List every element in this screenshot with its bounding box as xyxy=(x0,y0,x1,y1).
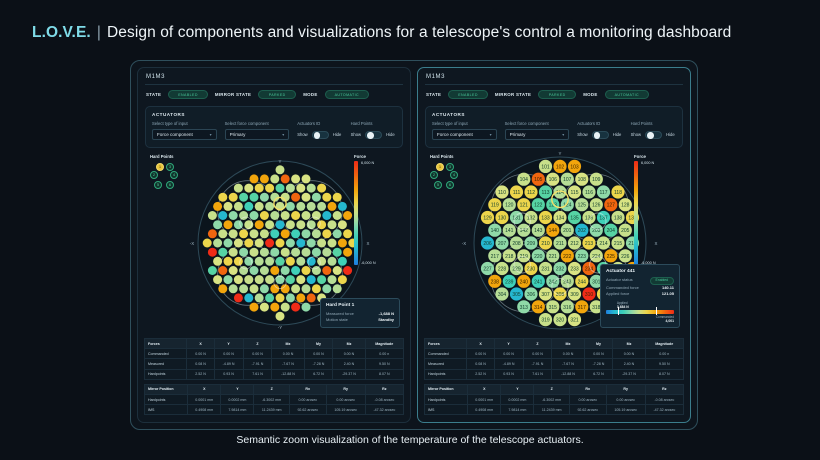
actuator-dot[interactable] xyxy=(328,275,337,284)
actuator-dot[interactable]: 243 xyxy=(561,275,574,288)
actuator-id-label: 104 xyxy=(520,177,529,183)
actuator-dot[interactable]: 136 xyxy=(582,211,595,224)
hard-point-dot[interactable]: 6 xyxy=(166,181,174,189)
actuator-dot[interactable]: 142 xyxy=(517,224,530,237)
actuator-dot[interactable]: 232 xyxy=(553,262,566,275)
mirror-plot-left[interactable]: Y-YX-X Hard Points 123456 Force 6,000 N … xyxy=(144,152,404,334)
actuator-dot[interactable] xyxy=(338,275,347,284)
actuator-dot[interactable]: 306 xyxy=(524,287,537,300)
actuator-dot[interactable] xyxy=(291,229,300,238)
toggle-knob xyxy=(594,132,601,139)
actuator-dot[interactable] xyxy=(218,266,227,275)
actuator-dot[interactable]: 118 xyxy=(611,185,624,198)
actuator-dot[interactable] xyxy=(322,266,331,275)
actuator-dot[interactable] xyxy=(317,239,326,248)
actuator-dot[interactable] xyxy=(291,284,300,293)
actuator-dot[interactable]: 211 xyxy=(553,236,566,249)
actuator-dot[interactable] xyxy=(260,303,269,312)
actuator-dot[interactable] xyxy=(250,174,259,183)
actuators-section-title: ACTUATORS xyxy=(152,112,396,117)
actuator-dot[interactable]: 320 xyxy=(553,313,566,326)
actuator-dot[interactable]: 242 xyxy=(546,275,559,288)
actuator-dot[interactable] xyxy=(208,211,217,220)
actuator-dot[interactable] xyxy=(250,229,259,238)
actuator-dot[interactable]: 321 xyxy=(568,313,581,326)
actuator-dot[interactable] xyxy=(296,293,305,302)
actuator-dot[interactable]: 228 xyxy=(495,262,508,275)
force-component-select[interactable]: Primary ▾ xyxy=(505,129,570,140)
actuator-dot[interactable]: 116 xyxy=(582,185,595,198)
actuator-dot[interactable] xyxy=(307,202,316,211)
actuator-dot[interactable] xyxy=(312,284,321,293)
actuator-dot[interactable] xyxy=(244,275,253,284)
actuator-dot[interactable] xyxy=(224,257,233,266)
actuator-dot[interactable]: 111 xyxy=(510,185,523,198)
actuator-dot[interactable] xyxy=(260,193,269,202)
hard-points-toggle[interactable] xyxy=(365,131,382,139)
actuator-dot[interactable] xyxy=(276,257,285,266)
actuator-dot[interactable]: 117 xyxy=(597,185,610,198)
actuator-dot[interactable] xyxy=(244,239,253,248)
actuator-dot[interactable]: 130 xyxy=(495,211,508,224)
actuator-dot[interactable]: 307 xyxy=(539,287,552,300)
actuator-dot[interactable]: 219 xyxy=(517,249,530,262)
actuator-dot[interactable] xyxy=(302,193,311,202)
hard-points-legend-title: Hard Points xyxy=(150,154,196,159)
hard-point-dot[interactable]: 5 xyxy=(154,181,162,189)
actuator-dot[interactable] xyxy=(296,239,305,248)
mirror-plot-right[interactable]: Y-YX-X1011021031041051061071081091101111… xyxy=(424,152,684,334)
actuator-id-label: 320 xyxy=(556,318,565,324)
actuator-dot[interactable]: 239 xyxy=(503,275,516,288)
actuator-dot[interactable] xyxy=(302,248,311,257)
actuator-dot[interactable] xyxy=(338,220,347,229)
actuator-dot[interactable] xyxy=(333,248,342,257)
page-title: L.O.V.E. | Design of components and visu… xyxy=(32,24,731,42)
actuator-dot[interactable] xyxy=(213,257,222,266)
actuator-dot[interactable]: 218 xyxy=(503,249,516,262)
table-cell: 105.19 arcsec xyxy=(606,405,645,415)
actuator-dot[interactable]: 108 xyxy=(575,173,588,186)
actuator-dot[interactable] xyxy=(296,257,305,266)
column-header: X xyxy=(187,339,214,349)
actuator-dot[interactable] xyxy=(317,202,326,211)
actuator-dot[interactable]: 121 xyxy=(517,198,530,211)
actuator-dot[interactable] xyxy=(281,248,290,257)
actuator-dot[interactable] xyxy=(270,174,279,183)
actuator-dot[interactable] xyxy=(250,248,259,257)
actuator-dot[interactable]: 233 xyxy=(568,262,581,275)
title-separator: | xyxy=(97,24,101,42)
actuator-dot[interactable] xyxy=(291,211,300,220)
actuator-dot[interactable] xyxy=(343,211,352,220)
actuator-dot[interactable]: 105 xyxy=(532,173,545,186)
actuator-dot[interactable] xyxy=(213,239,222,248)
actuator-dot[interactable]: 138 xyxy=(611,211,624,224)
actuator-dot[interactable]: 215 xyxy=(611,236,624,249)
actuator-dot[interactable] xyxy=(250,211,259,220)
actuator-dot[interactable]: 231 xyxy=(539,262,552,275)
actuator-dot[interactable]: 203 xyxy=(590,224,603,237)
actuator-dot[interactable] xyxy=(239,211,248,220)
actuator-dot[interactable] xyxy=(296,184,305,193)
actuator-dot[interactable] xyxy=(244,184,253,193)
actuator-dot[interactable]: 205 xyxy=(619,224,632,237)
actuator-dot[interactable] xyxy=(276,165,285,174)
actuator-dot[interactable]: 104 xyxy=(517,173,530,186)
actuator-dot[interactable] xyxy=(322,248,331,257)
actuator-dot[interactable] xyxy=(276,312,285,321)
hard-point-dot[interactable]: 3 xyxy=(166,163,174,171)
actuator-dot[interactable] xyxy=(302,284,311,293)
actuator-dot[interactable] xyxy=(255,293,264,302)
table-row: Hardpoints0.0001 mm0.0002 mm-6.3002 mm0.… xyxy=(145,394,404,404)
actuator-dot[interactable] xyxy=(286,184,295,193)
actuator-dot[interactable] xyxy=(291,174,300,183)
actuator-dot[interactable] xyxy=(265,220,274,229)
actuator-dot[interactable] xyxy=(218,229,227,238)
actuator-dot[interactable] xyxy=(322,211,331,220)
actuator-dot[interactable] xyxy=(229,248,238,257)
hard-point-dot[interactable]: 4 xyxy=(170,171,178,179)
actuator-dot[interactable] xyxy=(229,266,238,275)
actuator-dot[interactable] xyxy=(333,193,342,202)
actuator-dot[interactable] xyxy=(270,266,279,275)
actuator-dot[interactable] xyxy=(224,275,233,284)
table-cell: 7.9814 mm xyxy=(501,405,534,415)
hard-point-dot[interactable]: 4 xyxy=(450,171,458,179)
actuator-dot[interactable] xyxy=(286,275,295,284)
actuators-id-toggle[interactable] xyxy=(592,131,609,139)
actuator-dot[interactable] xyxy=(302,211,311,220)
actuator-dot[interactable] xyxy=(250,303,259,312)
actuator-dot[interactable] xyxy=(265,275,274,284)
actuator-dot[interactable]: 309 xyxy=(568,287,581,300)
actuator-dot[interactable]: 213 xyxy=(582,236,595,249)
actuator-dot[interactable] xyxy=(276,239,285,248)
actuator-dot[interactable]: 143 xyxy=(532,224,545,237)
actuator-dot[interactable]: 109 xyxy=(590,173,603,186)
actuator-dot[interactable] xyxy=(338,257,347,266)
actuator-dot[interactable] xyxy=(255,275,264,284)
actuator-dot[interactable]: 214 xyxy=(597,236,610,249)
actuator-dot[interactable]: 207 xyxy=(495,236,508,249)
actuator-dot[interactable]: 101 xyxy=(539,160,552,173)
actuator-dot[interactable]: 127 xyxy=(604,198,617,211)
actuator-dot[interactable] xyxy=(302,266,311,275)
actuator-dot[interactable] xyxy=(312,229,321,238)
actuator-dot[interactable] xyxy=(218,211,227,220)
actuator-dot[interactable] xyxy=(255,220,264,229)
actuator-dot[interactable]: 202 xyxy=(575,224,588,237)
actuator-dot[interactable]: 240 xyxy=(517,275,530,288)
actuator-dot[interactable] xyxy=(322,229,331,238)
actuator-dot[interactable] xyxy=(286,202,295,211)
actuator-id-label: 122 xyxy=(534,203,543,209)
actuator-dot[interactable]: 226 xyxy=(619,249,632,262)
actuator-dot[interactable] xyxy=(255,239,264,248)
actuator-dot[interactable]: 110 xyxy=(495,185,508,198)
actuator-dot[interactable]: 128 xyxy=(619,198,632,211)
actuator-dot[interactable] xyxy=(333,266,342,275)
hard-points-toggle[interactable] xyxy=(645,131,662,139)
actuator-dot[interactable] xyxy=(260,248,269,257)
actuator-dot[interactable] xyxy=(296,202,305,211)
actuator-dot[interactable] xyxy=(328,239,337,248)
actuator-dot[interactable] xyxy=(276,293,285,302)
actuator-dot[interactable]: 115 xyxy=(568,185,581,198)
actuator-id-label: 112 xyxy=(527,190,535,196)
actuator-dot[interactable] xyxy=(296,275,305,284)
hard-point-dot[interactable]: 3 xyxy=(446,163,454,171)
actuator-dot[interactable]: 141 xyxy=(503,224,516,237)
actuator-dot[interactable]: 120 xyxy=(503,198,516,211)
actuator-dot[interactable] xyxy=(260,266,269,275)
actuator-dot[interactable] xyxy=(343,266,352,275)
actuator-dot[interactable]: 210 xyxy=(539,236,552,249)
actuator-dot[interactable] xyxy=(244,202,253,211)
chevron-down-icon: ▾ xyxy=(562,132,564,137)
actuator-dot[interactable] xyxy=(234,202,243,211)
actuator-dot[interactable] xyxy=(270,211,279,220)
actuator-dot[interactable]: 140 xyxy=(488,224,501,237)
actuator-dot[interactable]: 124 xyxy=(561,198,574,211)
actuator-dot[interactable] xyxy=(302,303,311,312)
actuator-dot[interactable] xyxy=(229,211,238,220)
actuator-dot[interactable]: 220 xyxy=(532,249,545,262)
input-type-select[interactable]: Force component ▾ xyxy=(152,129,217,140)
actuator-dot[interactable] xyxy=(322,193,331,202)
actuator-dot[interactable]: 315 xyxy=(546,300,559,313)
hard-point-dot[interactable]: 1 xyxy=(156,163,164,171)
actuator-dot[interactable] xyxy=(291,193,300,202)
actuator-dot[interactable]: 223 xyxy=(575,249,588,262)
hard-point-dot[interactable]: 1 xyxy=(436,163,444,171)
actuator-dot[interactable] xyxy=(224,202,233,211)
actuator-id-label: 231 xyxy=(541,267,550,273)
actuator-dot[interactable] xyxy=(213,220,222,229)
actuator-dot[interactable]: 222 xyxy=(561,249,574,262)
actuator-dot[interactable] xyxy=(286,220,295,229)
actuator-dot[interactable]: 126 xyxy=(590,198,603,211)
actuator-id-label: 238 xyxy=(491,279,500,285)
hard-point-dot[interactable]: 5 xyxy=(434,181,442,189)
actuator-dot[interactable]: 238 xyxy=(488,275,501,288)
actuator-dot[interactable] xyxy=(291,248,300,257)
input-type-select[interactable]: Force component ▾ xyxy=(432,129,497,140)
actuator-dot[interactable] xyxy=(229,229,238,238)
actuator-dot[interactable] xyxy=(333,229,342,238)
actuator-dot[interactable] xyxy=(234,293,243,302)
actuator-dot[interactable] xyxy=(281,229,290,238)
actuator-dot[interactable] xyxy=(317,275,326,284)
actuator-dot[interactable] xyxy=(312,248,321,257)
actuator-dot[interactable]: 225 xyxy=(604,249,617,262)
actuator-dot[interactable]: 209 xyxy=(524,236,537,249)
actuator-dot[interactable] xyxy=(302,229,311,238)
actuator-dot[interactable] xyxy=(302,174,311,183)
actuator-dot[interactable]: 221 xyxy=(546,249,559,262)
actuator-dot[interactable]: 314 xyxy=(532,300,545,313)
actuator-dot[interactable] xyxy=(307,293,316,302)
actuator-dot[interactable]: 122 xyxy=(532,198,545,211)
actuator-dot[interactable] xyxy=(322,284,331,293)
actuator-dot[interactable] xyxy=(307,239,316,248)
actuator-dot[interactable]: 319 xyxy=(539,313,552,326)
actuators-id-toggle[interactable] xyxy=(312,131,329,139)
actuator-dot[interactable] xyxy=(229,284,238,293)
actuator-dot[interactable] xyxy=(343,248,352,257)
actuator-dot[interactable] xyxy=(224,239,233,248)
actuator-dot[interactable] xyxy=(281,211,290,220)
actuator-dot[interactable]: 106 xyxy=(546,173,559,186)
actuator-dot[interactable] xyxy=(286,239,295,248)
actuator-dot[interactable]: 135 xyxy=(568,211,581,224)
actuator-dot[interactable] xyxy=(291,303,300,312)
actuator-dot[interactable] xyxy=(239,248,248,257)
actuator-dot[interactable]: 107 xyxy=(561,173,574,186)
actuator-dot[interactable]: 224 xyxy=(590,249,603,262)
actuator-dot[interactable] xyxy=(255,257,264,266)
actuator-dot[interactable]: 129 xyxy=(481,211,494,224)
actuator-dot[interactable] xyxy=(208,266,217,275)
actuator-dot[interactable] xyxy=(281,174,290,183)
actuator-dot[interactable] xyxy=(213,202,222,211)
actuator-dot[interactable]: 125 xyxy=(575,198,588,211)
actuator-dot[interactable] xyxy=(265,239,274,248)
actuator-dot[interactable]: 217 xyxy=(488,249,501,262)
actuator-dot[interactable] xyxy=(338,202,347,211)
actuator-dot[interactable] xyxy=(270,229,279,238)
actuator-dot[interactable] xyxy=(317,184,326,193)
actuator-dot[interactable] xyxy=(265,184,274,193)
actuator-dot[interactable]: 230 xyxy=(524,262,537,275)
actuator-dot[interactable] xyxy=(328,202,337,211)
actuator-dot[interactable] xyxy=(286,293,295,302)
actuator-dot[interactable] xyxy=(281,303,290,312)
column-header: Z xyxy=(243,339,272,349)
actuator-dot[interactable]: 102 xyxy=(553,160,566,173)
actuator-dot[interactable] xyxy=(250,193,259,202)
actuator-dot[interactable] xyxy=(333,284,342,293)
actuator-dot[interactable] xyxy=(260,284,269,293)
actuator-dot[interactable] xyxy=(250,284,259,293)
actuator-dot[interactable] xyxy=(328,220,337,229)
actuator-dot[interactable] xyxy=(286,257,295,266)
actuator-dot[interactable] xyxy=(260,229,269,238)
actuator-dot[interactable] xyxy=(333,211,342,220)
actuator-dot[interactable] xyxy=(328,257,337,266)
actuator-dot[interactable] xyxy=(270,248,279,257)
actuator-dot[interactable]: 112 xyxy=(524,185,537,198)
actuator-dot[interactable] xyxy=(312,266,321,275)
actuator-dot[interactable] xyxy=(296,220,305,229)
actuator-dot[interactable] xyxy=(234,239,243,248)
applied-force-value: 121.05 xyxy=(662,291,674,297)
actuator-dot[interactable] xyxy=(208,229,217,238)
actuator-dot[interactable] xyxy=(255,202,264,211)
force-component-select[interactable]: Primary ▾ xyxy=(225,129,290,140)
actuator-dot[interactable] xyxy=(234,184,243,193)
actuator-dot[interactable]: 123 xyxy=(546,198,559,211)
actuator-dot[interactable]: 234 xyxy=(582,262,595,275)
actuator-dot[interactable] xyxy=(255,184,264,193)
actuator-dot[interactable] xyxy=(338,239,347,248)
actuator-dot[interactable] xyxy=(312,211,321,220)
actuator-dot[interactable] xyxy=(276,184,285,193)
actuator-dot[interactable]: 244 xyxy=(575,275,588,288)
actuator-dot[interactable]: 313 xyxy=(517,300,530,313)
actuator-dot[interactable] xyxy=(265,202,274,211)
actuator-dot[interactable] xyxy=(265,293,274,302)
actuator-dot[interactable] xyxy=(307,275,316,284)
actuator-dot[interactable] xyxy=(229,193,238,202)
hard-point-dot[interactable]: 2 xyxy=(430,171,438,179)
actuator-dot[interactable]: 212 xyxy=(568,236,581,249)
actuator-dot[interactable]: 134 xyxy=(553,211,566,224)
actuator-dot[interactable] xyxy=(239,266,248,275)
actuator-dot[interactable] xyxy=(234,275,243,284)
actuator-dot[interactable] xyxy=(270,303,279,312)
table-cell: -7.91 N xyxy=(523,359,552,369)
actuator-dot[interactable]: 316 xyxy=(561,300,574,313)
actuator-dot[interactable]: 206 xyxy=(481,236,494,249)
actuator-dot[interactable] xyxy=(343,229,352,238)
actuator-dot[interactable] xyxy=(239,193,248,202)
actuator-dot[interactable] xyxy=(218,193,227,202)
actuator-dot[interactable] xyxy=(250,266,259,275)
table-cell: -6.3002 mm xyxy=(534,394,569,404)
actuator-dot[interactable] xyxy=(218,284,227,293)
actuator-dot[interactable] xyxy=(208,248,217,257)
actuator-dot[interactable] xyxy=(260,174,269,183)
actuator-dot[interactable]: 113 xyxy=(539,185,552,198)
actuator-dot[interactable]: 305 xyxy=(510,287,523,300)
actuator-dot[interactable] xyxy=(213,275,222,284)
actuator-dot[interactable]: 119 xyxy=(488,198,501,211)
hard-point-dot[interactable]: 6 xyxy=(446,181,454,189)
actuator-dot[interactable]: 241 xyxy=(532,275,545,288)
actuator-dot[interactable] xyxy=(218,248,227,257)
actuator-dot[interactable] xyxy=(307,184,316,193)
hard-point-dot[interactable]: 2 xyxy=(150,171,158,179)
actuator-dot[interactable] xyxy=(276,220,285,229)
actuator-dot[interactable]: 133 xyxy=(539,211,552,224)
actuator-dot[interactable]: 304 xyxy=(495,287,508,300)
actuator-dot[interactable]: 201 xyxy=(561,224,574,237)
actuator-dot[interactable] xyxy=(312,193,321,202)
actuator-dot[interactable]: 317 xyxy=(575,300,588,313)
actuator-dot[interactable] xyxy=(239,284,248,293)
actuator-dot[interactable] xyxy=(224,220,233,229)
actuator-dot[interactable] xyxy=(244,293,253,302)
actuator-dot[interactable] xyxy=(265,257,274,266)
actuator-dot[interactable]: 103 xyxy=(568,160,581,173)
actuator-dot[interactable]: 310 xyxy=(582,287,595,300)
actuator-dot[interactable]: 208 xyxy=(510,236,523,249)
actuator-dot[interactable] xyxy=(291,266,300,275)
force-gradient-bar xyxy=(354,161,358,265)
actuator-dot[interactable] xyxy=(281,266,290,275)
actuator-dot[interactable] xyxy=(260,211,269,220)
actuator-dot[interactable]: 132 xyxy=(524,211,537,224)
actuator-dot[interactable]: 227 xyxy=(481,262,494,275)
actuator-dot[interactable] xyxy=(203,239,212,248)
actuator-dot[interactable]: 204 xyxy=(604,224,617,237)
actuator-id-label: 222 xyxy=(563,254,572,260)
actuator-dot[interactable]: 144 xyxy=(546,224,559,237)
actuator-dot[interactable] xyxy=(239,229,248,238)
